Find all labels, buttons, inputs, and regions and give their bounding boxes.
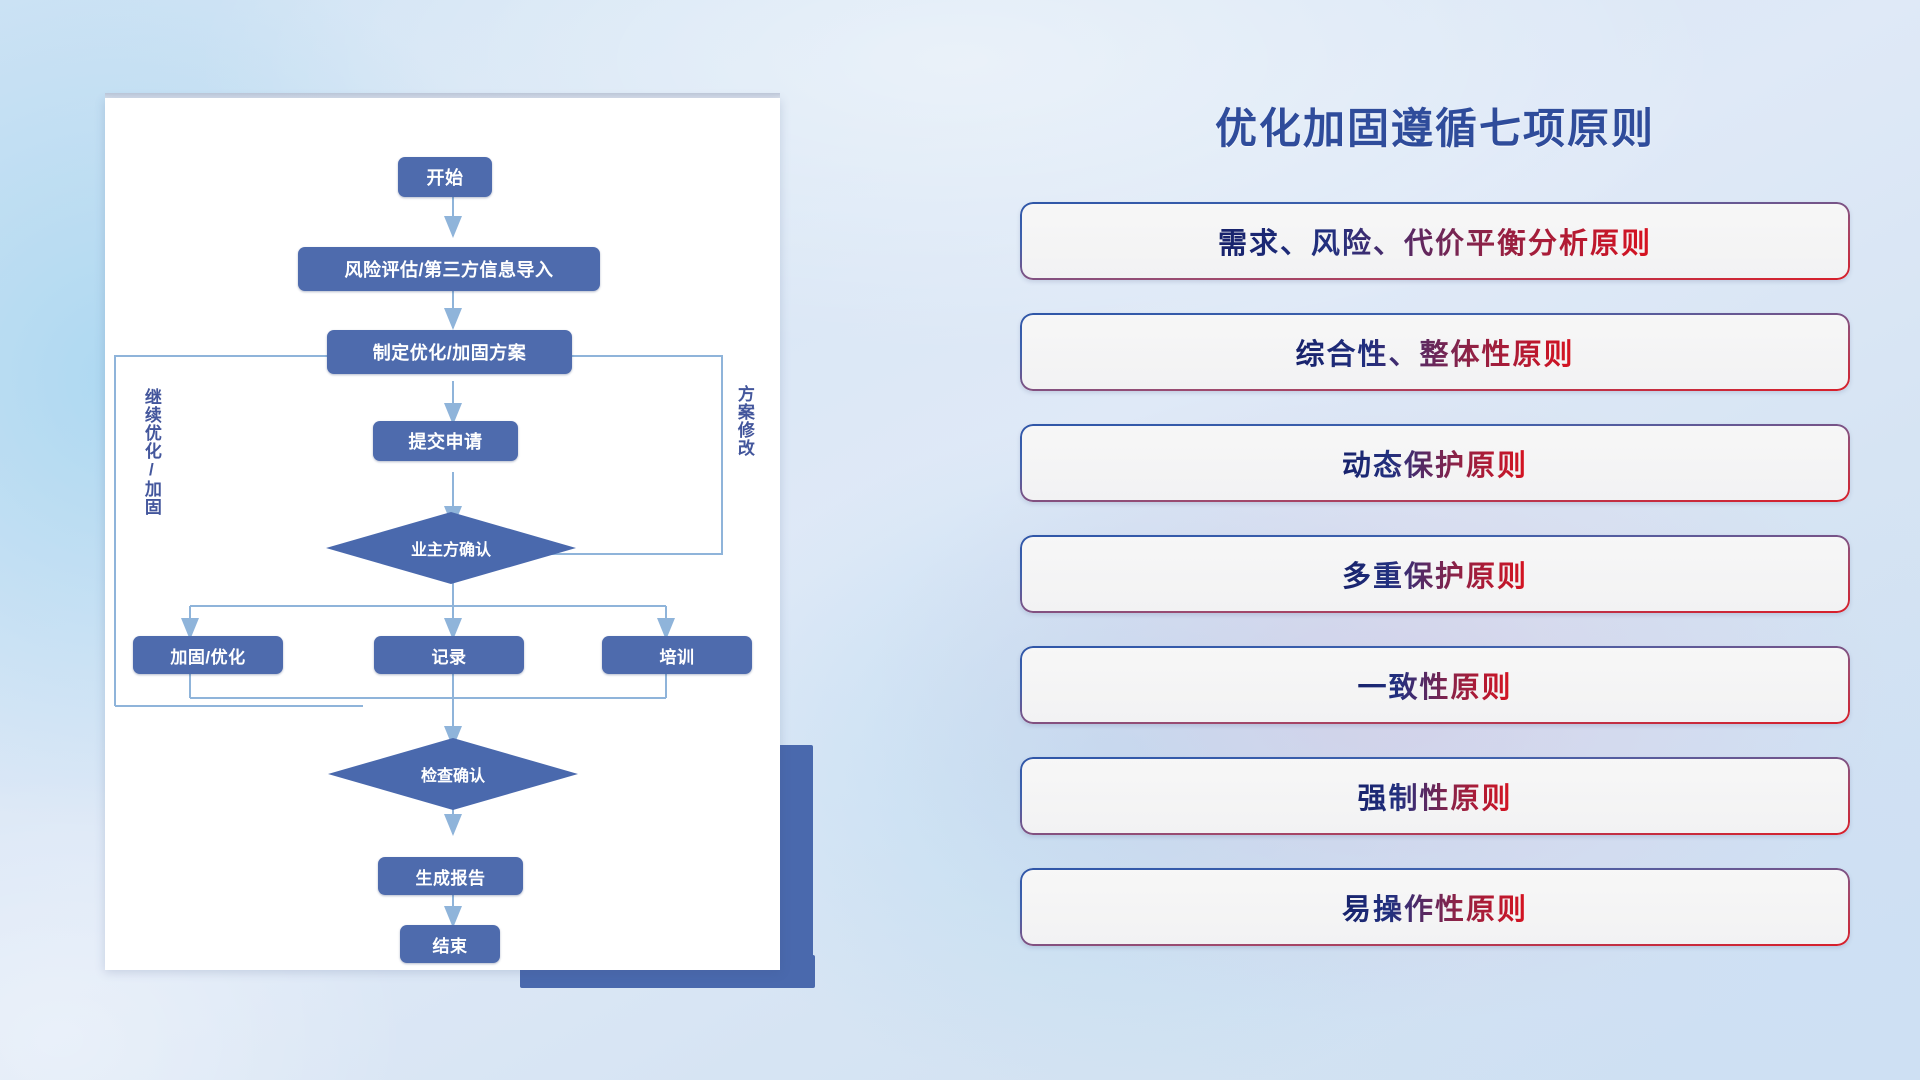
flow-node-submit[interactable]: 提交申请	[373, 421, 518, 461]
principle-item-5[interactable]: 一致性原则	[1020, 646, 1850, 724]
flow-node-reinforce[interactable]: 加固/优化	[133, 636, 283, 674]
principle-item-2-label: 综合性、整体性原则	[1295, 331, 1574, 373]
principle-item-1[interactable]: 需求、风险、代价平衡分析原则	[1020, 202, 1850, 280]
flow-node-training[interactable]: 培训	[602, 636, 752, 674]
flow-node-check-confirm-label: 检查确认	[421, 762, 485, 786]
principle-item-6-label: 强制性原则	[1357, 775, 1512, 817]
principle-item-7-label: 易操作性原则	[1342, 886, 1528, 928]
principle-item-2[interactable]: 综合性、整体性原则	[1020, 313, 1850, 391]
principle-item-4[interactable]: 多重保护原则	[1020, 535, 1850, 613]
flow-node-reinforce-label: 加固/优化	[170, 643, 245, 668]
principle-item-1-label: 需求、风险、代价平衡分析原则	[1218, 220, 1652, 262]
flow-node-start[interactable]: 开始	[398, 157, 492, 197]
flow-node-submit-label: 提交申请	[409, 428, 483, 454]
flow-node-record[interactable]: 记录	[374, 636, 524, 674]
flow-edge-label-right-loop: 方案修改	[735, 385, 753, 515]
flow-node-training-label: 培训	[660, 643, 695, 668]
flow-node-owner-confirm-label: 业主方确认	[411, 536, 491, 560]
flow-node-end-label: 结束	[433, 932, 468, 957]
flow-node-record-label: 记录	[432, 643, 467, 668]
flow-node-risk-assessment[interactable]: 风险评估/第三方信息导入	[298, 247, 600, 291]
principle-item-7[interactable]: 易操作性原则	[1020, 868, 1850, 946]
principle-item-5-label: 一致性原则	[1357, 664, 1512, 706]
principle-item-3[interactable]: 动态保护原则	[1020, 424, 1850, 502]
flow-node-report[interactable]: 生成报告	[378, 857, 523, 895]
flow-node-end[interactable]: 结束	[400, 925, 500, 963]
flow-node-start-label: 开始	[427, 164, 464, 190]
principles-panel: 优化加固遵循七项原则 需求、风险、代价平衡分析原则 综合性、整体性原则 动态保护…	[1020, 95, 1850, 979]
flow-node-plan[interactable]: 制定优化/加固方案	[327, 330, 572, 374]
flow-edge-label-left-loop: 继续优化/加固	[142, 388, 160, 568]
flow-node-owner-confirm[interactable]: 业主方确认	[326, 512, 576, 584]
flow-node-check-confirm[interactable]: 检查确认	[328, 738, 578, 810]
panel-title: 优化加固遵循七项原则	[1020, 95, 1850, 156]
flow-node-plan-label: 制定优化/加固方案	[373, 339, 527, 365]
flow-node-report-label: 生成报告	[416, 864, 486, 889]
principle-item-4-label: 多重保护原则	[1342, 553, 1528, 595]
principle-item-6[interactable]: 强制性原则	[1020, 757, 1850, 835]
principle-item-3-label: 动态保护原则	[1342, 442, 1528, 484]
flow-node-risk-assessment-label: 风险评估/第三方信息导入	[345, 256, 554, 282]
